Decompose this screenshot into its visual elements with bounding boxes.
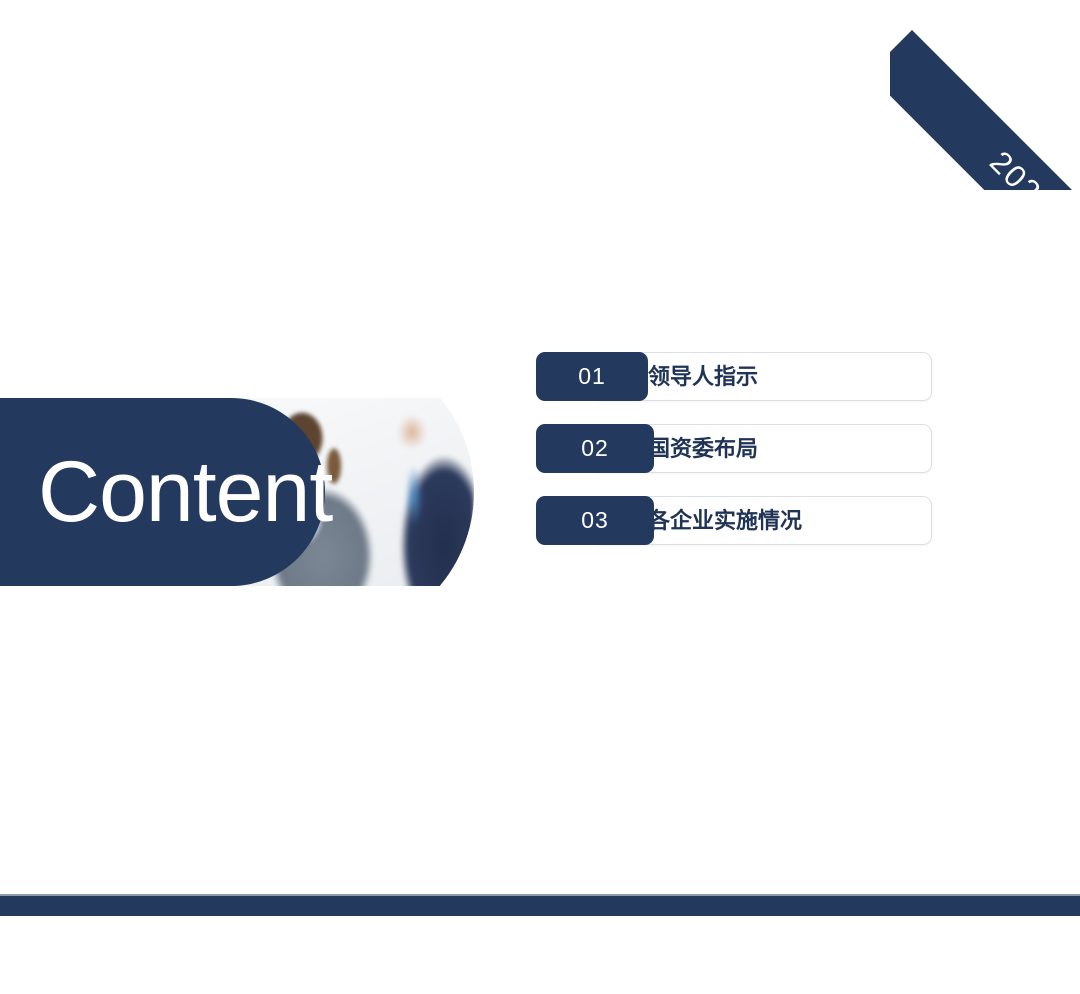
slide-canvas: 2021 Content 领导人指示 01 国资委布局 02 各企业实施情况 0… — [0, 0, 1080, 994]
toc-item-number: 03 — [536, 496, 654, 545]
ribbon-year-label: 2021 — [982, 144, 1062, 190]
ribbon-band: 2021 — [890, 30, 1080, 190]
content-title-panel: Content — [0, 398, 325, 586]
toc-item-number: 02 — [536, 424, 654, 473]
toc-item-02[interactable]: 国资委布局 02 — [536, 424, 932, 473]
toc-item-03[interactable]: 各企业实施情况 03 — [536, 496, 932, 545]
toc-item-title: 国资委布局 — [648, 424, 758, 473]
table-of-contents: 领导人指示 01 国资委布局 02 各企业实施情况 03 — [536, 352, 932, 568]
toc-item-01[interactable]: 领导人指示 01 — [536, 352, 932, 401]
toc-item-title: 各企业实施情况 — [648, 496, 802, 545]
content-title-label: Content — [38, 449, 332, 535]
content-hero-block: Content — [0, 398, 500, 586]
toc-item-number: 01 — [536, 352, 648, 401]
bottom-accent-bar — [0, 896, 1080, 916]
corner-ribbon: 2021 — [890, 0, 1080, 190]
toc-item-title: 领导人指示 — [648, 352, 758, 401]
